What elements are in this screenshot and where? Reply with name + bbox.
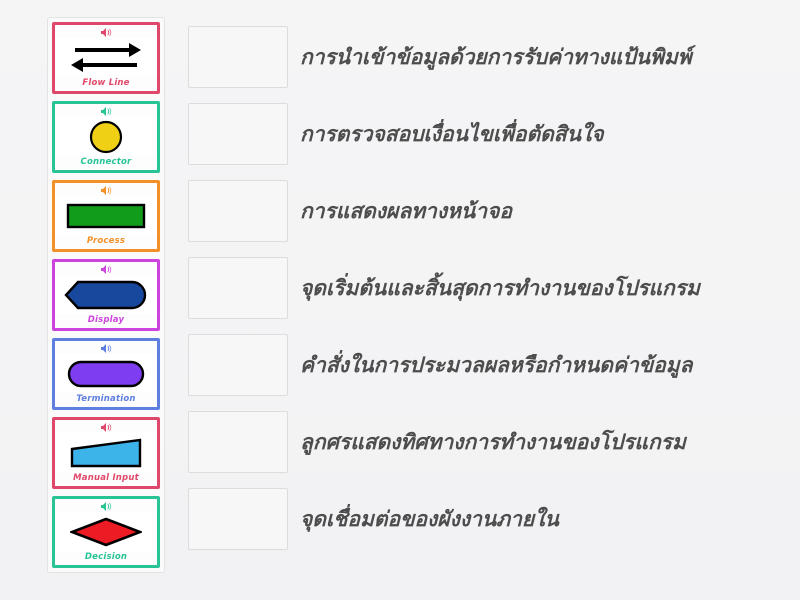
shape-diamond bbox=[55, 512, 157, 551]
answer-text: การแสดงผลทางหน้าจอ bbox=[300, 198, 512, 224]
tile-label: Display bbox=[55, 314, 157, 328]
activity-canvas: Flow Line Connector Proc bbox=[0, 0, 800, 600]
answer-row: จุดเชื่อมต่อของผังงานภายใน bbox=[300, 488, 780, 550]
answer-row: คำสั่งในการประมวลผลหรือกำหนดค่าข้อมูล bbox=[300, 334, 780, 396]
speaker-icon[interactable] bbox=[100, 185, 112, 196]
speaker-icon[interactable] bbox=[100, 501, 112, 512]
tile-manual-input[interactable]: Manual Input bbox=[52, 417, 160, 489]
tile-label: Flow Line bbox=[55, 77, 157, 91]
tile-tray: Flow Line Connector Proc bbox=[47, 17, 165, 573]
answer-row: ลูกศรแสดงทิศทางการทำงานของโปรแกรม bbox=[300, 411, 780, 473]
shape-circle bbox=[55, 117, 157, 156]
answer-text-column: การนำเข้าข้อมูลด้วยการรับค่าทางแป้นพิมพ์… bbox=[300, 26, 780, 565]
drop-zone-4[interactable] bbox=[188, 257, 288, 319]
drop-zone-3[interactable] bbox=[188, 180, 288, 242]
tile-decision[interactable]: Decision bbox=[52, 496, 160, 568]
speaker-icon[interactable] bbox=[100, 27, 112, 38]
tile-label: Termination bbox=[55, 393, 157, 407]
speaker-icon[interactable] bbox=[100, 264, 112, 275]
shape-display bbox=[55, 275, 157, 314]
tile-display[interactable]: Display bbox=[52, 259, 160, 331]
shape-double-arrow bbox=[55, 38, 157, 77]
answer-row: การนำเข้าข้อมูลด้วยการรับค่าทางแป้นพิมพ์ bbox=[300, 26, 780, 88]
answer-row: การตรวจสอบเงื่อนไขเพื่อตัดสินใจ bbox=[300, 103, 780, 165]
speaker-icon[interactable] bbox=[100, 343, 112, 354]
answer-row: การแสดงผลทางหน้าจอ bbox=[300, 180, 780, 242]
answer-row: จุดเริ่มต้นและสิ้นสุดการทำงานของโปรแกรม bbox=[300, 257, 780, 319]
tile-termination[interactable]: Termination bbox=[52, 338, 160, 410]
answer-text: การตรวจสอบเงื่อนไขเพื่อตัดสินใจ bbox=[300, 121, 604, 147]
answer-text: จุดเริ่มต้นและสิ้นสุดการทำงานของโปรแกรม bbox=[300, 275, 700, 301]
tile-label: Manual Input bbox=[55, 472, 157, 486]
answer-text: จุดเชื่อมต่อของผังงานภายใน bbox=[300, 506, 559, 532]
answer-text: ลูกศรแสดงทิศทางการทำงานของโปรแกรม bbox=[300, 429, 686, 455]
drop-zone-2[interactable] bbox=[188, 103, 288, 165]
speaker-icon[interactable] bbox=[100, 106, 112, 117]
shape-rectangle bbox=[55, 196, 157, 235]
drop-zone-column bbox=[188, 26, 288, 565]
tile-label: Connector bbox=[55, 156, 157, 170]
shape-trapezoid bbox=[55, 433, 157, 472]
tile-flow-line[interactable]: Flow Line bbox=[52, 22, 160, 94]
tile-label: Process bbox=[55, 235, 157, 249]
speaker-icon[interactable] bbox=[100, 422, 112, 433]
drop-zone-5[interactable] bbox=[188, 334, 288, 396]
drop-zone-7[interactable] bbox=[188, 488, 288, 550]
answer-text: การนำเข้าข้อมูลด้วยการรับค่าทางแป้นพิมพ์ bbox=[300, 44, 692, 70]
shape-stadium bbox=[55, 354, 157, 393]
drop-zone-1[interactable] bbox=[188, 26, 288, 88]
tile-connector[interactable]: Connector bbox=[52, 101, 160, 173]
answer-text: คำสั่งในการประมวลผลหรือกำหนดค่าข้อมูล bbox=[300, 352, 692, 378]
tile-process[interactable]: Process bbox=[52, 180, 160, 252]
tile-label: Decision bbox=[55, 551, 157, 565]
drop-zone-6[interactable] bbox=[188, 411, 288, 473]
